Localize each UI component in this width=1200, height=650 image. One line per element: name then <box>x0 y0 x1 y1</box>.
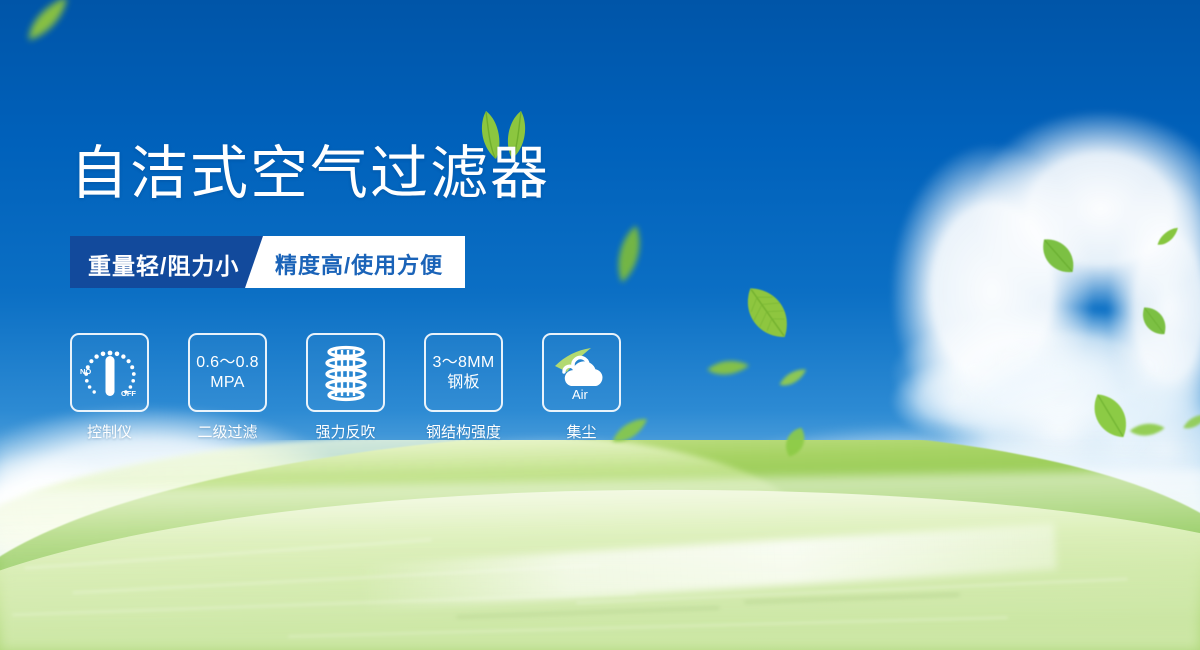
feature-item-blowback[interactable]: 强力反吹 <box>306 333 385 442</box>
leaf-icon <box>729 273 805 352</box>
leaf-icon <box>776 366 809 391</box>
leaf-icon <box>704 347 752 390</box>
pressure-line1: 0.6～0.8 <box>196 353 259 373</box>
subtitle-left-text: 重量轻/阻力小 <box>88 247 239 281</box>
steel-text-box: 3～8MM 钢板 <box>424 333 503 412</box>
steel-line1: 3～8MM <box>433 353 495 373</box>
feature-label: 二级过滤 <box>197 421 257 442</box>
cloud-air-icon: Air <box>551 344 613 402</box>
svg-text:OFF: OFF <box>121 389 136 398</box>
leaf-icon <box>1181 410 1200 433</box>
page-title: 自洁式空气过滤器 <box>70 145 550 203</box>
product-banner: 自洁式空气过滤器 重量轻/阻力小 精度高/使用方便 <box>0 0 1200 650</box>
gauge-icon-box: NO OFF <box>70 333 149 412</box>
filter-cartridge-icon <box>320 344 372 402</box>
leaf-icon <box>608 220 651 289</box>
feature-item-controller[interactable]: NO OFF 控制仪 <box>70 333 149 442</box>
feature-item-dust[interactable]: Air 集尘 <box>542 333 621 442</box>
cloud-air-icon-box: Air <box>542 333 621 412</box>
feature-label: 控制仪 <box>87 421 132 442</box>
subtitle-right-text: 精度高/使用方便 <box>275 248 443 280</box>
pressure-line2: MPA <box>210 373 244 393</box>
feature-item-filtration[interactable]: 0.6～0.8 MPA 二级过滤 <box>188 333 267 442</box>
ground-glow <box>0 530 1200 650</box>
subtitle-bar: 重量轻/阻力小 精度高/使用方便 <box>70 236 465 288</box>
feature-label: 钢结构强度 <box>426 421 501 442</box>
svg-text:Air: Air <box>572 387 589 402</box>
feature-list: NO OFF 控制仪 0.6～0.8 MPA 二级过滤 <box>70 333 621 442</box>
pressure-text-box: 0.6～0.8 MPA <box>188 333 267 412</box>
steel-line2: 钢板 <box>447 373 480 393</box>
filter-cartridge-icon-box <box>306 333 385 412</box>
feature-item-steel[interactable]: 3～8MM 钢板 钢结构强度 <box>424 333 503 442</box>
svg-text:NO: NO <box>80 367 91 376</box>
feature-label: 强力反吹 <box>315 421 375 442</box>
grass-landscape <box>0 440 1200 650</box>
leaf-icon <box>15 0 80 47</box>
feature-label: 集尘 <box>566 421 596 442</box>
gauge-icon: NO OFF <box>79 344 141 402</box>
